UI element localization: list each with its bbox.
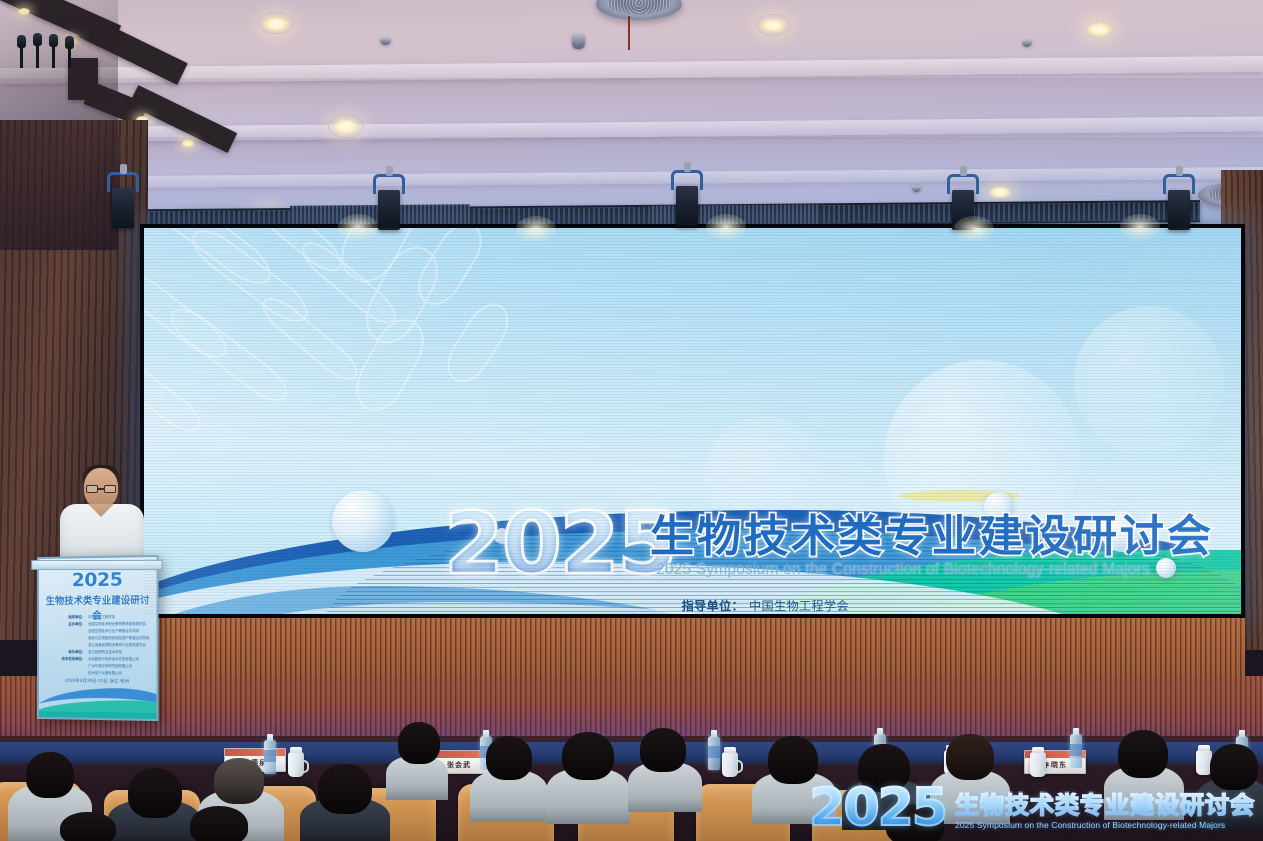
light-clamp xyxy=(386,166,393,176)
podium-org-value: 全国生物技术职业教育教学指导委员会 xyxy=(88,621,146,626)
light-clamp xyxy=(960,166,967,176)
audience-person-head xyxy=(768,736,818,784)
podium-org-value: 浙江省食品类职业教育行业指导委员会 xyxy=(88,642,146,647)
light-clamp xyxy=(120,164,127,174)
podium-org-label: 主办单位： xyxy=(47,621,88,626)
water-bottle xyxy=(708,736,720,770)
microphone-capsule xyxy=(49,34,58,47)
audience-person-head xyxy=(1118,730,1168,778)
audience-person-head xyxy=(398,722,440,764)
stage-light xyxy=(1168,190,1190,230)
name-plate-header xyxy=(225,749,285,756)
ceiling-downlight-rim xyxy=(328,114,364,138)
light-clamp xyxy=(684,162,691,172)
light-yoke xyxy=(107,172,139,192)
water-bottle xyxy=(1070,734,1082,768)
audience-person-head xyxy=(60,812,116,841)
ceiling-downlight-rim xyxy=(258,12,294,34)
podium-org-label: 承办单位： xyxy=(47,649,88,654)
audience-person-head xyxy=(946,734,994,780)
podium-org-value: 食品与生物医药检验检测产教融合共同体 xyxy=(88,635,149,640)
podium-org-value: 中国生物工程学会 xyxy=(88,614,115,619)
ceiling-air-diffuser xyxy=(596,0,682,20)
microphone-capsule xyxy=(33,33,42,46)
light-yoke xyxy=(1163,174,1195,194)
conference-hall-photo: 2025 2025 生物技术类专业建设研讨会 生物技术类专业建设研讨会 2025… xyxy=(0,0,1263,841)
podium-org-value: 全国生物技术行业产教融合共同体 xyxy=(88,628,139,633)
watermark-text-group: 生物技术类专业建设研讨会 2025 Symposium on the Const… xyxy=(955,793,1255,833)
banner-year: 2025 xyxy=(444,494,675,594)
microphone xyxy=(36,42,39,68)
led-screen: 2025 2025 生物技术类专业建设研讨会 生物技术类专业建设研讨会 2025… xyxy=(144,228,1241,614)
podium-organization-row: 食品与生物医药检验检测产教融合共同体 xyxy=(47,635,151,640)
banner-text-layer: 2025 2025 生物技术类专业建设研讨会 生物技术类专业建设研讨会 2025… xyxy=(144,228,1241,614)
microphone xyxy=(68,45,71,68)
podium-org-label xyxy=(47,635,88,640)
audience-person-head xyxy=(190,806,248,841)
podium-organization-row: 指导单位： 中国生物工程学会 xyxy=(47,614,151,619)
audience-person-head xyxy=(26,752,74,798)
microphone-capsule xyxy=(65,36,74,49)
podium-top-surface xyxy=(31,560,163,570)
banner-title-en: 2025 Symposium on the Construction of Bi… xyxy=(656,561,1150,579)
podium-organization-row: 杭州佑宁仪器有限公司 xyxy=(47,670,151,676)
ceiling-downlight xyxy=(1086,22,1112,37)
banner-organization-list: 指导单位： 中国生物工程学会 主办单位： 全国生物技术职业教育教学指导委员会 全… xyxy=(144,596,1241,614)
stage-light xyxy=(378,190,400,230)
watermark-title-cn: 生物技术类专业建设研讨会 xyxy=(955,793,1255,818)
watermark-logo: 2025 生物技术类专业建设研讨会 2025 Symposium on the … xyxy=(809,785,1255,833)
podium-organization-row: 全国生物技术行业产教融合共同体 xyxy=(47,628,151,633)
podium-org-label xyxy=(47,670,88,675)
light-clamp xyxy=(1176,166,1183,176)
stage-wood-panel xyxy=(140,618,1245,678)
podium-organization-row: 技术支持单位： 北京欧倍尔软件技术开发有限公司 xyxy=(47,656,151,661)
podium-org-value: 浙江经贸职业技术学院 xyxy=(88,649,122,654)
podium-date: 2025年9月19日-21日 浙江·杭州 xyxy=(39,677,157,684)
ceiling-downlight xyxy=(988,186,1012,199)
podium-org-label: 指导单位： xyxy=(47,614,88,619)
audience-person-head xyxy=(318,764,372,814)
organization-row: 指导单位： 中国生物工程学会 xyxy=(144,596,1241,614)
microphone xyxy=(20,44,23,68)
podium-organization-row: 浙江省食品类职业教育行业指导委员会 xyxy=(47,642,151,647)
podium-organization-row: 广州牛顿光学研究院有限公司 xyxy=(47,663,151,669)
light-yoke xyxy=(373,174,405,194)
podium-organization-row: 主办单位： 全国生物技术职业教育教学指导委员会 xyxy=(47,621,151,626)
audience-person-head xyxy=(1210,744,1258,790)
podium-organization-row: 承办单位： 浙江经贸职业技术学院 xyxy=(47,649,151,654)
watermark-year: 2025 xyxy=(809,785,946,833)
led-screen-frame: 2025 2025 生物技术类专业建设研讨会 生物技术类专业建设研讨会 2025… xyxy=(140,224,1245,618)
sprinkler-head xyxy=(912,186,921,192)
name-plate-text: 张会武 xyxy=(447,760,471,770)
audience-person-head xyxy=(486,736,532,780)
tea-mug xyxy=(722,752,738,777)
microphone xyxy=(52,43,55,68)
podium-org-value: 广州牛顿光学研究院有限公司 xyxy=(88,663,132,668)
tea-mug xyxy=(1030,752,1046,777)
ceiling xyxy=(0,0,1263,232)
sprinkler-head xyxy=(1022,40,1032,47)
sprinkler-head xyxy=(572,34,585,49)
audience-person-head xyxy=(562,732,614,780)
light-yoke xyxy=(947,174,979,194)
watermark-title-en: 2025 Symposium on the Construction of Bi… xyxy=(955,820,1255,830)
organization-value: 中国生物工程学会 xyxy=(749,596,849,614)
podium-org-value: 北京欧倍尔软件技术开发有限公司 xyxy=(88,656,139,661)
podium-org-label xyxy=(47,642,88,647)
podium-organization-list: 指导单位： 中国生物工程学会 主办单位： 全国生物技术职业教育教学指导委员会 全… xyxy=(47,614,151,678)
water-bottle xyxy=(264,740,276,774)
podium-year: 2025 xyxy=(39,568,157,591)
podium-org-value: 杭州佑宁仪器有限公司 xyxy=(88,670,122,675)
stage-light xyxy=(676,186,698,226)
stage-light xyxy=(112,188,134,228)
audience-person-head xyxy=(640,728,686,772)
podium-org-label xyxy=(47,663,88,668)
ceiling-downlight-rim xyxy=(756,14,790,36)
organization-label: 指导单位： xyxy=(144,596,749,614)
audience-person-head xyxy=(214,758,264,804)
podium-org-label xyxy=(47,628,88,633)
sprinkler-head xyxy=(380,38,391,45)
track-light xyxy=(182,140,194,147)
tea-mug xyxy=(288,752,304,777)
glasses-icon xyxy=(86,485,116,493)
podium-org-label: 技术支持单位： xyxy=(47,656,88,661)
light-yoke xyxy=(671,170,703,190)
ceiling-hanging-rod xyxy=(628,16,630,50)
audience-person-head xyxy=(128,768,182,818)
microphone-capsule xyxy=(17,35,26,48)
banner-title-cn: 生物技术类专业建设研讨会 xyxy=(650,500,1214,564)
podium-sign: 2025 生物技术类专业建设研讨会 指导单位： 中国生物工程学会 主办单位： 全… xyxy=(37,555,159,721)
